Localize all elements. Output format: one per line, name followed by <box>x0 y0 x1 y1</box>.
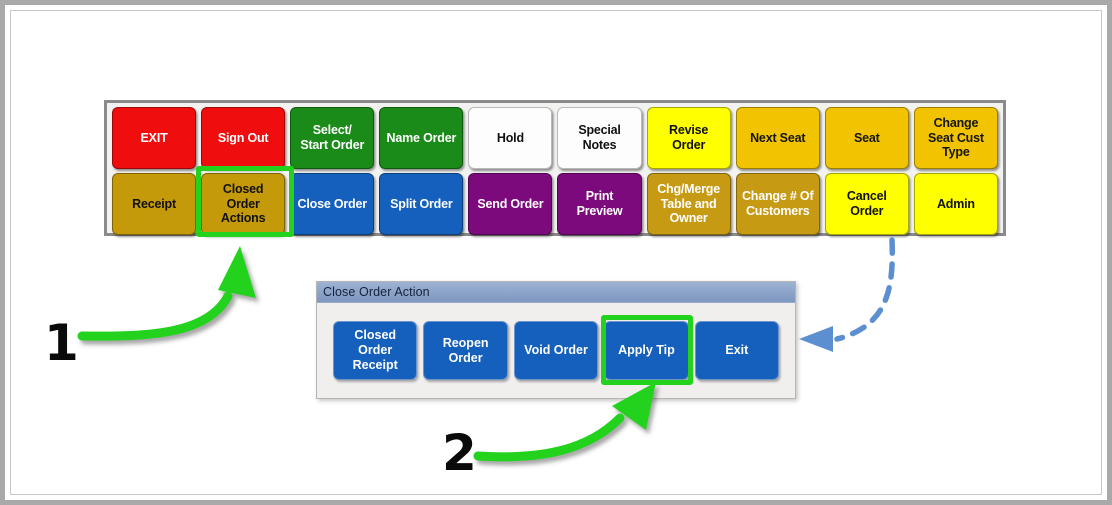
pos-button-cancel-order[interactable]: CancelOrder <box>825 173 909 235</box>
pos-button-change-seat-cust-type[interactable]: ChangeSeat CustType <box>914 107 998 169</box>
pos-button-label: EXIT <box>114 131 194 146</box>
pos-button-receipt[interactable]: Receipt <box>112 173 196 235</box>
screenshot-outer-frame <box>0 0 1112 505</box>
pos-button-label: Sign Out <box>203 131 283 146</box>
dialog-button-void-order[interactable]: Void Order <box>514 321 598 380</box>
pos-button-label: ChangeSeat CustType <box>916 116 996 160</box>
pos-button-next-seat[interactable]: Next Seat <box>736 107 820 169</box>
annotation-step-number-2: 2 <box>442 428 477 478</box>
pos-button-label: Seat <box>827 131 907 146</box>
pos-grid-row-2: Receipt ClosedOrderActions Close Order S… <box>112 173 998 235</box>
pos-grid-row-1: EXIT Sign Out Select/Start Order Name Or… <box>112 107 998 169</box>
pos-button-label: Send Order <box>470 197 550 212</box>
dialog-body: ClosedOrderReceipt ReopenOrder Void Orde… <box>317 303 795 398</box>
pos-button-label: Close Order <box>292 197 372 212</box>
dialog-button-reopen-order[interactable]: ReopenOrder <box>423 321 507 380</box>
pos-button-chg-merge-table-and-owner[interactable]: Chg/MergeTable andOwner <box>647 173 731 235</box>
pos-button-grid: EXIT Sign Out Select/Start Order Name Or… <box>104 100 1006 236</box>
pos-button-label: ReviseOrder <box>649 123 729 153</box>
dialog-button-label: Void Order <box>524 343 588 358</box>
pos-button-seat[interactable]: Seat <box>825 107 909 169</box>
dialog-button-label: ReopenOrder <box>443 336 489 366</box>
pos-button-label: Change # OfCustomers <box>738 189 818 219</box>
pos-button-special-notes[interactable]: SpecialNotes <box>557 107 641 169</box>
pos-button-label: CancelOrder <box>827 189 907 219</box>
dialog-button-label: Apply Tip <box>618 343 675 358</box>
pos-button-label: Hold <box>470 131 550 146</box>
pos-button-hold[interactable]: Hold <box>468 107 552 169</box>
pos-button-label: SpecialNotes <box>559 123 639 153</box>
dialog-button-closed-order-receipt[interactable]: ClosedOrderReceipt <box>333 321 417 380</box>
pos-button-name-order[interactable]: Name Order <box>379 107 463 169</box>
pos-button-label: Receipt <box>114 197 194 212</box>
inner-hairline-border <box>10 10 1102 495</box>
dialog-button-label: Exit <box>725 343 748 358</box>
pos-button-split-order[interactable]: Split Order <box>379 173 463 235</box>
dialog-button-exit[interactable]: Exit <box>695 321 779 380</box>
dialog-title: Close Order Action <box>323 285 430 299</box>
pos-button-change-number-of-customers[interactable]: Change # OfCustomers <box>736 173 820 235</box>
pos-button-send-order[interactable]: Send Order <box>468 173 552 235</box>
dialog-button-label: ClosedOrderReceipt <box>353 328 398 373</box>
pos-button-sign-out[interactable]: Sign Out <box>201 107 285 169</box>
dialog-titlebar: Close Order Action <box>317 282 795 303</box>
pos-button-label: PrintPreview <box>559 189 639 219</box>
pos-button-label: Split Order <box>381 197 461 212</box>
pos-button-label: Admin <box>916 197 996 212</box>
close-order-action-dialog: Close Order Action ClosedOrderReceipt Re… <box>316 281 796 399</box>
pos-button-label: Next Seat <box>738 131 818 146</box>
pos-button-label: Chg/MergeTable andOwner <box>649 182 729 226</box>
pos-button-label: Name Order <box>381 131 461 146</box>
dialog-button-apply-tip[interactable]: Apply Tip <box>604 321 688 380</box>
pos-button-revise-order[interactable]: ReviseOrder <box>647 107 731 169</box>
pos-button-label: Select/Start Order <box>292 123 372 153</box>
pos-button-exit[interactable]: EXIT <box>112 107 196 169</box>
pos-button-print-preview[interactable]: PrintPreview <box>557 173 641 235</box>
annotation-step-number-1: 1 <box>44 318 79 368</box>
pos-button-admin[interactable]: Admin <box>914 173 998 235</box>
pos-button-close-order[interactable]: Close Order <box>290 173 374 235</box>
pos-button-select-start-order[interactable]: Select/Start Order <box>290 107 374 169</box>
pos-button-closed-order-actions[interactable]: ClosedOrderActions <box>201 173 285 235</box>
pos-button-label: ClosedOrderActions <box>203 182 283 226</box>
